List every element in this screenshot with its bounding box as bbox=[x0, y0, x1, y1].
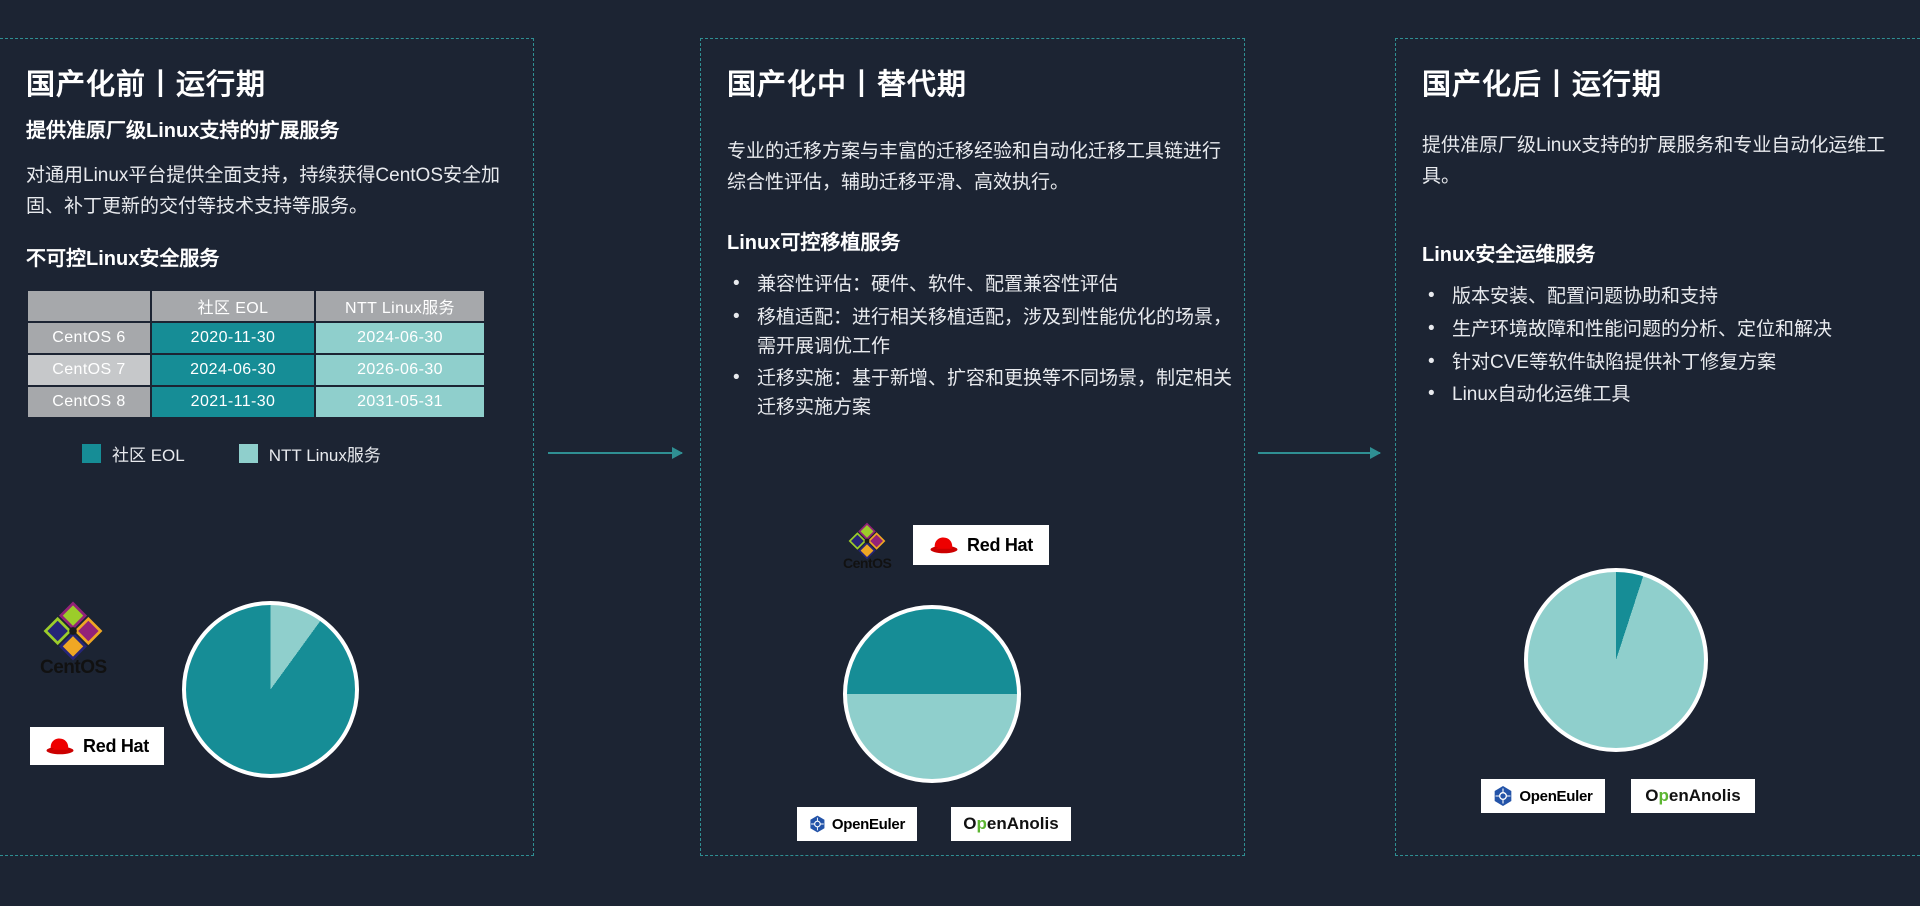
panel-after: 国产化后丨运行期 提供准原厂级Linux支持的扩展服务和专业自动化运维工具。 L… bbox=[1395, 38, 1920, 856]
openeuler-logo-label: OpenEuler bbox=[1519, 788, 1592, 805]
table-cell-ntt: 2026-06-30 bbox=[316, 355, 484, 385]
list-item: 生产环境故障和性能问题的分析、定位和解决 bbox=[1422, 316, 1904, 345]
panel-title: 国产化后丨运行期 bbox=[1422, 67, 1894, 103]
centos-logo: CentOS bbox=[843, 521, 891, 571]
legend-swatch-icon bbox=[239, 444, 258, 463]
legend-item-eol: 社区 EOL bbox=[82, 441, 185, 466]
table-row: CentOS 7 2024-06-30 2026-06-30 bbox=[28, 355, 484, 385]
panel-before: 国产化前丨运行期 提供准原厂级Linux支持的扩展服务 对通用Linux平台提供… bbox=[0, 38, 534, 856]
pie-chart-before bbox=[182, 601, 359, 778]
redhat-fedora-icon bbox=[929, 535, 959, 555]
redhat-fedora-icon bbox=[45, 736, 75, 756]
openanolis-logo-label: OpenAnolis bbox=[1645, 786, 1740, 806]
panel-section-title: 不可控Linux安全服务 bbox=[26, 245, 507, 273]
table-cell-os: CentOS 8 bbox=[28, 387, 150, 417]
openeuler-hexagon-icon bbox=[809, 813, 826, 835]
panel-section-title: Linux可控移植服务 bbox=[727, 229, 1218, 257]
openeuler-logo: OpenEuler bbox=[1481, 779, 1605, 813]
panel-description: 专业的迁移方案与丰富的迁移经验和自动化迁移工具链进行综合性评估，辅助迁移平滑、高… bbox=[727, 137, 1229, 199]
table-header-row: 社区 EOL NTT Linux服务 bbox=[28, 291, 484, 321]
list-item: 版本安装、配置问题协助和支持 bbox=[1422, 283, 1904, 312]
legend-label: NTT Linux服务 bbox=[269, 441, 381, 466]
redhat-logo-label: Red Hat bbox=[83, 736, 149, 757]
legend-label: 社区 EOL bbox=[112, 441, 185, 466]
centos-pinwheel-icon bbox=[41, 599, 105, 663]
table-row: CentOS 6 2020-11-30 2024-06-30 bbox=[28, 323, 484, 353]
list-item: 迁移实施：基于新增、扩容和更换等不同场景，制定相关迁移实施方案 bbox=[727, 365, 1233, 423]
openanolis-logo-label: OpenAnolis bbox=[963, 814, 1058, 834]
table-cell-ntt: 2024-06-30 bbox=[316, 323, 484, 353]
table-header-eol: 社区 EOL bbox=[152, 291, 314, 321]
panel-description: 提供准原厂级Linux支持的扩展服务和专业自动化运维工具。 bbox=[1422, 131, 1892, 193]
panel-during: 国产化中丨替代期 专业的迁移方案与丰富的迁移经验和自动化迁移工具链进行综合性评估… bbox=[700, 38, 1245, 856]
table-cell-eol: 2024-06-30 bbox=[152, 355, 314, 385]
list-item: 针对CVE等软件缺陷提供补丁修复方案 bbox=[1422, 349, 1904, 378]
eol-table: 社区 EOL NTT Linux服务 CentOS 6 2020-11-30 2… bbox=[26, 289, 486, 419]
centos-logo-label: CentOS bbox=[843, 555, 891, 571]
pie-chart-during bbox=[843, 605, 1021, 783]
list-item: Linux自动化运维工具 bbox=[1422, 381, 1904, 410]
list-item: 移植适配：进行相关移植适配，涉及到性能优化的场景，需开展调优工作 bbox=[727, 304, 1233, 362]
centos-logo-label: CentOS bbox=[40, 657, 107, 679]
panel-subtitle: 提供准原厂级Linux支持的扩展服务 bbox=[26, 117, 507, 145]
redhat-logo: Red Hat bbox=[913, 525, 1049, 565]
legend-item-ntt: NTT Linux服务 bbox=[239, 441, 381, 466]
table-row: CentOS 8 2021-11-30 2031-05-31 bbox=[28, 387, 484, 417]
panel-title: 国产化中丨替代期 bbox=[727, 67, 1218, 103]
arrow-before-to-during bbox=[548, 452, 682, 454]
service-bullet-list: 兼容性评估：硬件、软件、配置兼容性评估 移植适配：进行相关移植适配，涉及到性能优… bbox=[727, 271, 1233, 423]
slide-canvas: 国产化前丨运行期 提供准原厂级Linux支持的扩展服务 对通用Linux平台提供… bbox=[0, 0, 1920, 906]
arrow-during-to-after bbox=[1258, 452, 1380, 454]
table-cell-eol: 2020-11-30 bbox=[152, 323, 314, 353]
redhat-logo-label: Red Hat bbox=[967, 535, 1033, 556]
centos-logo: CentOS bbox=[40, 599, 107, 679]
openanolis-logo: OpenAnolis bbox=[951, 807, 1071, 841]
pie-chart-after bbox=[1524, 568, 1708, 752]
table-cell-ntt: 2031-05-31 bbox=[316, 387, 484, 417]
legend-swatch-icon bbox=[82, 444, 101, 463]
panel-title: 国产化前丨运行期 bbox=[26, 67, 507, 103]
table-header-blank bbox=[28, 291, 150, 321]
table-cell-eol: 2021-11-30 bbox=[152, 387, 314, 417]
table-cell-os: CentOS 6 bbox=[28, 323, 150, 353]
table-cell-os: CentOS 7 bbox=[28, 355, 150, 385]
chart-legend: 社区 EOL NTT Linux服务 bbox=[26, 441, 507, 466]
openanolis-logo: OpenAnolis bbox=[1631, 779, 1755, 813]
panel-section-title: Linux安全运维服务 bbox=[1422, 241, 1894, 269]
table-header-ntt: NTT Linux服务 bbox=[316, 291, 484, 321]
openeuler-logo-label: OpenEuler bbox=[832, 816, 905, 833]
openeuler-logo: OpenEuler bbox=[797, 807, 917, 841]
panel-description: 对通用Linux平台提供全面支持，持续获得CentOS安全加固、补丁更新的交付等… bbox=[26, 161, 518, 223]
list-item: 兼容性评估：硬件、软件、配置兼容性评估 bbox=[727, 271, 1233, 300]
service-bullet-list: 版本安装、配置问题协助和支持 生产环境故障和性能问题的分析、定位和解决 针对CV… bbox=[1422, 283, 1904, 411]
openeuler-hexagon-icon bbox=[1493, 785, 1513, 807]
redhat-logo: Red Hat bbox=[30, 727, 164, 765]
